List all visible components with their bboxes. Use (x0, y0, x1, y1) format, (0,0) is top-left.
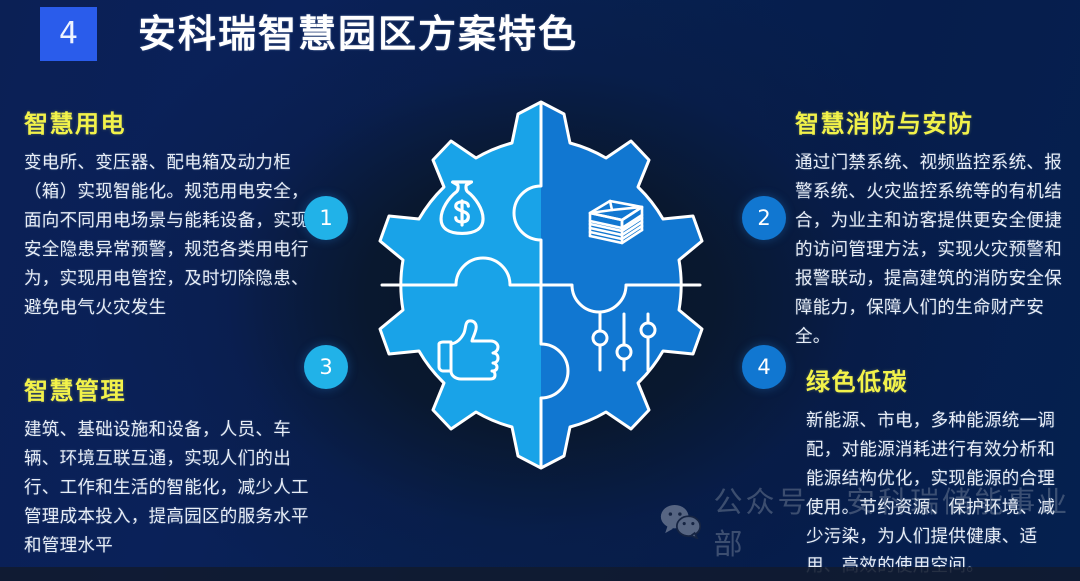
slide-canvas: 4 安科瑞智慧园区方案特色 智慧用电 变电所、变压器、配电箱及动力柜（箱）实现智… (0, 0, 1080, 581)
header-number-badge: 4 (40, 7, 97, 61)
block-body: 新能源、市电，多种能源统一调配，对能源消耗进行有效分析和能源结构优化，实现能源的… (806, 407, 1064, 581)
slide-header: 4 安科瑞智慧园区方案特色 (0, 0, 1080, 70)
gear-puzzle-graphic (352, 96, 730, 474)
feature-block-smart-electricity: 智慧用电 变电所、变压器、配电箱及动力柜（箱）实现智能化。规范用电安全，面向不同… (24, 104, 316, 323)
page-title: 安科瑞智慧园区方案特色 (138, 6, 578, 62)
block-title: 智慧用电 (24, 104, 316, 139)
block-title: 绿色低碳 (806, 362, 1064, 397)
number-badge-3: 3 (304, 345, 348, 389)
wechat-icon (660, 503, 702, 539)
number-badge-4: 4 (742, 345, 786, 389)
number-badge-1: 1 (304, 196, 348, 240)
block-body: 通过门禁系统、视频监控系统、报警系统、火灾监控系统等的有机结合，为业主和访客提供… (795, 149, 1063, 352)
feature-block-smart-fire-security: 智慧消防与安防 通过门禁系统、视频监控系统、报警系统、火灾监控系统等的有机结合，… (795, 104, 1063, 352)
block-body: 变电所、变压器、配电箱及动力柜（箱）实现智能化。规范用电安全，面向不同用电场景与… (24, 149, 316, 323)
block-title: 智慧消防与安防 (795, 104, 1063, 139)
feature-block-smart-management: 智慧管理 建筑、基础设施和设备，人员、车辆、环境互联互通，实现人们的出行、工作和… (24, 371, 320, 561)
feature-block-green-low-carbon: 绿色低碳 新能源、市电，多种能源统一调配，对能源消耗进行有效分析和能源结构优化，… (806, 362, 1064, 581)
block-body: 建筑、基础设施和设备，人员、车辆、环境互联互通，实现人们的出行、工作和生活的智能… (24, 416, 320, 561)
block-title: 智慧管理 (24, 371, 320, 406)
number-badge-2: 2 (742, 196, 786, 240)
